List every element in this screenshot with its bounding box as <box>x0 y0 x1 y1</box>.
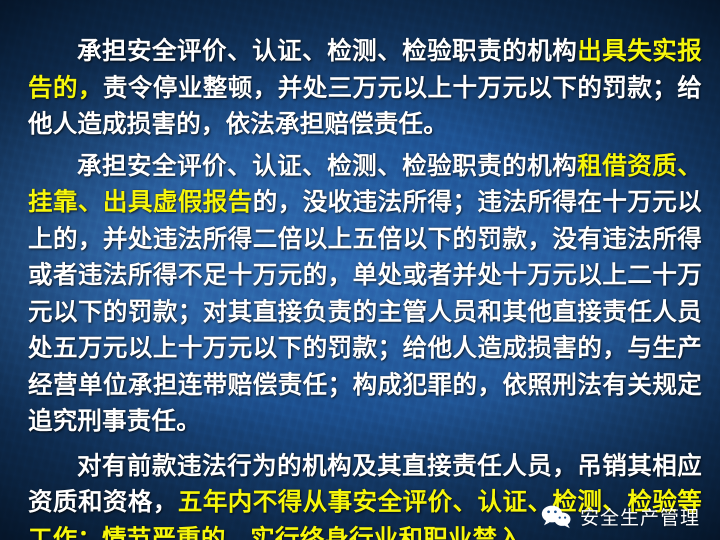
paragraph-1: 承担安全评价、认证、检测、检验职责的机构出具失实报告的，责令停业整顿，并处三万元… <box>0 0 720 143</box>
paragraph-2: 承担安全评价、认证、检测、检验职责的机构租借资质、挂靠、出具虚假报告的，没收违法… <box>0 143 720 440</box>
body-text: 的，没收违法所得；违法所得在十万元以上的，并处违法所得二倍以上五倍以下的罚款，没… <box>28 187 702 435</box>
body-text: 承担安全评价、认证、检测、检验职责的机构 <box>77 151 577 180</box>
watermark: 安全生产管理 <box>541 503 700 530</box>
body-text: 承担安全评价、认证、检测、检验职责的机构 <box>77 36 577 65</box>
slide-content: 承担安全评价、认证、检测、检验职责的机构出具失实报告的，责令停业整顿，并处三万元… <box>0 0 720 540</box>
body-text: 责令停业整顿，并处三万元以上十万元以下的罚款；给他人造成损害的，依法承担赔偿责任… <box>28 73 702 139</box>
wechat-icon <box>541 504 571 529</box>
presentation-slide: 承担安全评价、认证、检测、检验职责的机构出具失实报告的，责令停业整顿，并处三万元… <box>0 0 720 540</box>
watermark-label: 安全生产管理 <box>580 503 700 530</box>
